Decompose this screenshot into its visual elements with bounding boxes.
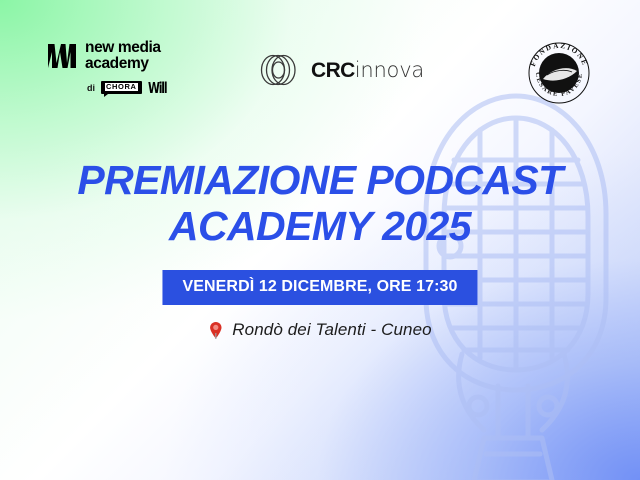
title-line-2: ACADEMY 2025 bbox=[0, 204, 640, 250]
fondazione-seal-icon: FONDAZIONE CESARE PAVESE bbox=[527, 41, 591, 105]
nma-wordmark: new media academy bbox=[85, 40, 161, 72]
logo-crc-innova: CRC innova bbox=[260, 54, 424, 86]
nma-line2: academy bbox=[85, 56, 161, 72]
crc-bold-text: CRC bbox=[311, 60, 355, 81]
page-title: PREMIAZIONE PODCAST ACADEMY 2025 bbox=[0, 158, 640, 250]
event-poster: new media academy di CHORA Will CRC bbox=[0, 0, 640, 480]
venue-label: Rondò dei Talenti - Cuneo bbox=[232, 320, 431, 340]
event-date-banner: VENERDÌ 12 DICEMBRE, ORE 17:30 bbox=[162, 270, 477, 305]
nma-di-label: di bbox=[87, 83, 95, 93]
nma-sublogos: di CHORA Will bbox=[47, 79, 215, 97]
nma-line1: new media bbox=[85, 40, 161, 56]
logo-new-media-academy: new media academy di CHORA Will bbox=[47, 40, 215, 97]
crc-rings-icon bbox=[260, 54, 304, 86]
logo-will: Will bbox=[148, 79, 166, 97]
event-venue: Rondò dei Talenti - Cuneo bbox=[208, 320, 431, 340]
sponsor-logo-bar: new media academy di CHORA Will CRC bbox=[0, 0, 640, 118]
location-pin-icon bbox=[208, 321, 223, 340]
logo-fondazione-cesare-pavese: FONDAZIONE CESARE PAVESE bbox=[527, 41, 591, 105]
title-line-1: PREMIAZIONE PODCAST bbox=[0, 158, 640, 204]
logo-chora: CHORA bbox=[101, 81, 142, 95]
crc-light-text: innova bbox=[355, 60, 424, 81]
nma-monogram-icon bbox=[47, 41, 77, 71]
chora-label: CHORA bbox=[105, 83, 138, 91]
